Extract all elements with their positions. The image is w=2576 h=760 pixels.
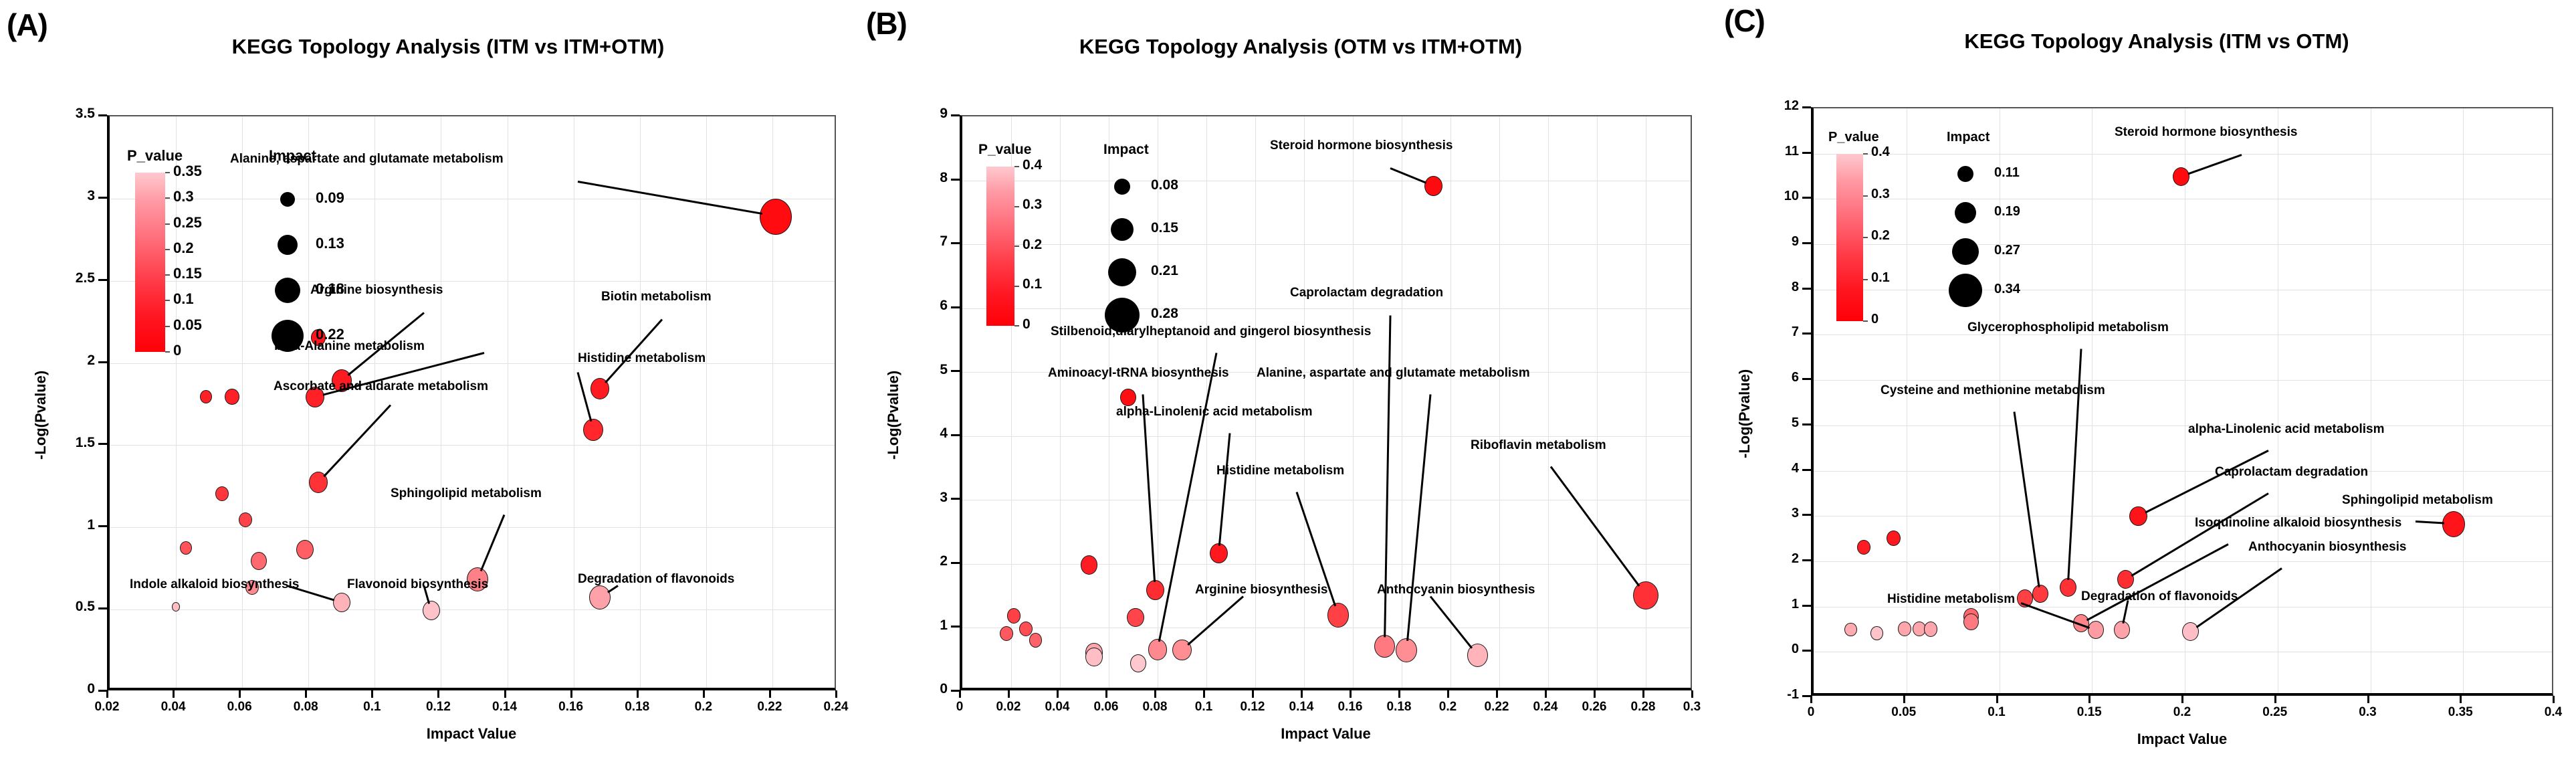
data-point [1085, 648, 1102, 666]
annotation-label: alpha-Linolenic acid metabolism [1116, 405, 1313, 419]
data-point [1396, 638, 1417, 662]
data-point [239, 512, 252, 527]
data-point [333, 593, 350, 612]
data-point [1019, 622, 1033, 636]
colorbar-tick-label: 0.1 [173, 290, 194, 308]
data-point [1146, 580, 1164, 600]
y-tick-label: 3 [873, 490, 948, 506]
data-point [2060, 578, 2076, 597]
colorbar-tick [1014, 325, 1019, 326]
leader-line [2187, 154, 2242, 175]
grid-line-horizontal [110, 527, 835, 528]
leader-line [323, 404, 391, 477]
legend-impact-dot [278, 235, 298, 255]
data-point [423, 601, 440, 620]
leader-line [1188, 595, 1244, 645]
legend-impact-label: 0.28 [1151, 306, 1178, 322]
panel-b: (B)KEGG Topology Analysis (OTM vs ITM+OT… [859, 0, 1719, 760]
y-tick-label: 10 [1724, 189, 1799, 204]
colorbar-tick [165, 197, 170, 199]
legend-pvalue-header: P_value [978, 142, 1031, 158]
y-tick-mark [98, 607, 107, 609]
x-tick-mark [504, 690, 506, 698]
data-point [2442, 511, 2465, 537]
legend-impact-dot [1108, 258, 1136, 286]
colorbar-tick-label: 0 [1871, 312, 1879, 327]
leader-line [578, 181, 762, 215]
pvalue-colorbar [135, 173, 165, 352]
legend-impact-label: 0.27 [1994, 243, 2020, 258]
annotation-label: Degradation of flavonoids [2081, 589, 2238, 604]
data-point [172, 602, 180, 611]
annotation-label: Cysteine and methionine metabolism [1881, 383, 2105, 398]
annotation-label: Isoquinoline alkaloid biosynthesis [2195, 516, 2401, 531]
x-tick-mark [437, 690, 439, 698]
data-point [296, 540, 314, 559]
x-tick-label: 0.05 [1864, 705, 1944, 720]
data-point [1029, 633, 1043, 648]
x-tick-mark [1154, 690, 1156, 698]
x-tick-mark [173, 690, 175, 698]
colorbar-tick-label: 0.3 [1871, 187, 1890, 202]
colorbar-tick-label: 0.2 [1023, 237, 1042, 253]
legend-impact-dot [1111, 218, 1134, 241]
y-tick-label: 5 [873, 362, 948, 378]
leader-line [1158, 353, 1218, 642]
x-tick-label: 0.3 [2328, 705, 2408, 720]
colorbar-tick-label: 0.05 [173, 316, 202, 334]
data-point [200, 390, 212, 403]
y-tick-label: 2 [1724, 551, 1799, 567]
y-tick-mark [98, 525, 107, 527]
leader-line [1142, 394, 1156, 582]
panel-letter: (A) [7, 7, 47, 43]
y-tick-label: 7 [1724, 324, 1799, 340]
leader-line [2416, 520, 2444, 525]
x-tick-mark [1057, 690, 1059, 698]
x-tick-mark [1008, 690, 1010, 698]
legend-impact-dot [1105, 298, 1140, 332]
grid-line-vertical [1499, 116, 1500, 688]
annotation-label: Biotin metabolism [601, 290, 712, 304]
x-tick-mark [2088, 696, 2090, 703]
y-tick-mark [951, 626, 960, 628]
data-point [1007, 608, 1021, 623]
panel-letter: (C) [1724, 3, 1765, 39]
y-axis-title: -Log(Pvalue) [885, 371, 902, 460]
leader-line [2086, 543, 2229, 621]
y-tick-mark [951, 690, 960, 692]
legend-impact-label: 0.18 [316, 280, 344, 298]
annotation-label: Ascorbate and aldarate metabolism [274, 379, 488, 394]
y-tick-label: 4 [873, 425, 948, 442]
data-point [1887, 531, 1901, 546]
x-tick-mark [2553, 696, 2555, 703]
y-tick-mark [1802, 378, 1811, 380]
annotation-label: Caprolactam degradation [2215, 465, 2368, 480]
x-tick-mark [239, 690, 241, 698]
colorbar-tick-label: 0 [1023, 316, 1031, 332]
legend-impact-label: 0.34 [1994, 282, 2020, 297]
y-tick-mark [1802, 605, 1811, 607]
y-tick-label: 3 [1724, 506, 1799, 521]
data-point [1924, 622, 1938, 637]
y-tick-mark [98, 114, 107, 116]
x-tick-mark [1496, 690, 1498, 698]
data-point [1857, 540, 1870, 555]
legend-impact-dot [1114, 179, 1130, 195]
grid-line-vertical [2371, 108, 2371, 693]
grid-line-horizontal [1814, 425, 2552, 426]
colorbar-tick [1863, 279, 1868, 280]
colorbar-tick [165, 326, 170, 327]
y-tick-label: 8 [873, 170, 948, 186]
grid-line-vertical [1451, 116, 1451, 688]
panel-a: (A)KEGG Topology Analysis (ITM vs ITM+OT… [0, 0, 859, 760]
annotation-label: Sphingolipid metabolism [2342, 493, 2493, 508]
y-tick-mark [951, 434, 960, 436]
data-point [2114, 621, 2130, 639]
y-tick-mark [1802, 106, 1811, 108]
legend-impact-label: 0.15 [1151, 220, 1178, 236]
colorbar-tick-label: 0.4 [1871, 145, 1890, 160]
y-tick-mark [951, 370, 960, 372]
annotation-label: Degradation of flavonoids [578, 572, 734, 587]
colorbar-tick [1863, 153, 1868, 155]
data-point [1898, 622, 1911, 636]
y-tick-label: 5 [1724, 415, 1799, 431]
annotation-label: alpha-Linolenic acid metabolism [2188, 422, 2385, 437]
x-tick-mark [2274, 696, 2276, 703]
colorbar-tick-label: 0.3 [1023, 197, 1042, 213]
data-point [225, 389, 239, 405]
y-tick-label: 12 [1724, 98, 1799, 114]
colorbar-tick [165, 274, 170, 276]
x-tick-label: 0.4 [2513, 705, 2576, 720]
y-tick-label: 2 [20, 353, 95, 369]
x-tick-label: 0 [1771, 705, 1851, 720]
data-point [1870, 626, 1883, 640]
x-tick-mark [1642, 690, 1644, 698]
x-tick-label: 0.2 [2142, 705, 2222, 720]
y-axis-title: -Log(Pvalue) [1736, 369, 1753, 458]
grid-line-vertical [1548, 116, 1549, 688]
leader-line [1550, 466, 1640, 587]
colorbar-tick [1863, 320, 1868, 322]
x-axis-title: Impact Value [107, 725, 836, 743]
leader-line [1218, 433, 1231, 546]
colorbar-tick-label: 0.25 [173, 214, 202, 231]
x-tick-mark [703, 690, 705, 698]
y-tick-mark [1802, 242, 1811, 244]
grid-line-horizontal [1814, 380, 2552, 381]
grid-line-vertical [574, 116, 574, 688]
grid-line-vertical [1304, 116, 1305, 688]
x-tick-mark [371, 690, 373, 698]
y-tick-label: 1 [20, 517, 95, 533]
y-tick-label: 0.5 [20, 599, 95, 615]
annotation-label: Caprolactam degradation [1290, 286, 1443, 300]
data-point [1424, 176, 1442, 196]
y-tick-label: 6 [1724, 370, 1799, 385]
data-point [583, 419, 603, 442]
y-tick-label: 0 [873, 681, 948, 697]
data-point [1327, 603, 1349, 627]
grid-line-horizontal [1814, 516, 2552, 516]
legend: P_valueImpact0.40.30.20.100.110.190.270.… [1828, 130, 2109, 351]
y-tick-label: 4 [1724, 461, 1799, 476]
y-tick-mark [98, 690, 107, 692]
annotation-label: Anthocyanin biosynthesis [2248, 540, 2406, 555]
y-tick-label: 0 [20, 681, 95, 697]
y-tick-mark [951, 562, 960, 564]
legend-impact-label: 0.08 [1151, 177, 1178, 193]
pvalue-colorbar [986, 167, 1014, 326]
colorbar-tick [1014, 206, 1019, 207]
colorbar-tick-label: 0.4 [1023, 157, 1042, 173]
grid-line-horizontal [962, 500, 1691, 500]
colorbar-tick [1863, 237, 1868, 238]
colorbar-tick [165, 351, 170, 353]
annotation-label: Alanine, aspartate and glutamate metabol… [1257, 366, 1530, 381]
y-tick-mark [951, 306, 960, 308]
x-axis-title: Impact Value [960, 725, 1692, 743]
grid-line-horizontal [962, 564, 1691, 565]
data-point [1000, 626, 1013, 641]
annotation-label: Histidine metabolism [578, 351, 706, 366]
y-tick-mark [98, 197, 107, 199]
annotation-label: Riboflavin metabolism [1471, 438, 1606, 453]
legend-impact-header: Impact [1947, 130, 1990, 145]
legend-impact-dot [1949, 274, 1982, 307]
colorbar-tick-label: 0.15 [173, 265, 202, 282]
legend-impact-dot [1952, 238, 1979, 265]
panel-c: (C)KEGG Topology Analysis (ITM vs OTM)St… [1719, 0, 2576, 760]
y-tick-label: 1 [1724, 597, 1799, 612]
annotation-label: Arginine biosynthesis [1195, 583, 1327, 597]
x-tick-mark [1350, 690, 1352, 698]
legend: P_valueImpact0.350.30.250.20.150.10.0500… [127, 147, 408, 380]
panel-letter: (B) [866, 5, 907, 41]
leader-line [1390, 167, 1426, 184]
data-point [1844, 623, 1856, 637]
x-tick-mark [1252, 690, 1254, 698]
y-tick-label: 8 [1724, 280, 1799, 295]
colorbar-tick-label: 0.1 [1871, 270, 1890, 286]
legend-impact-dot [280, 192, 295, 207]
annotation-label: Steroid hormone biosynthesis [2115, 125, 2297, 140]
x-tick-mark [2181, 696, 2183, 703]
x-axis-title: Impact Value [1811, 731, 2553, 748]
y-tick-label: 2 [873, 553, 948, 569]
annotation-label: Flavonoid biosynthesis [347, 577, 488, 592]
colorbar-tick [165, 249, 170, 250]
legend-impact-header: Impact [269, 147, 316, 165]
grid-line-horizontal [962, 436, 1691, 437]
grid-line-vertical [640, 116, 641, 688]
data-point [1148, 639, 1167, 660]
panel-title: KEGG Topology Analysis (ITM vs OTM) [1792, 29, 2521, 54]
data-point [1081, 555, 1097, 574]
x-tick-mark [1903, 696, 1905, 703]
y-tick-mark [1802, 514, 1811, 516]
y-tick-label: 2.5 [20, 270, 95, 286]
grid-line-horizontal [1814, 561, 2552, 562]
data-point [1374, 635, 1395, 658]
x-tick-mark [1691, 690, 1693, 698]
data-point [760, 199, 792, 235]
data-point [251, 552, 267, 570]
data-point [1210, 543, 1228, 563]
grid-line-vertical [508, 116, 508, 688]
data-point [2173, 167, 2189, 186]
legend-impact-label: 0.11 [1994, 165, 2020, 181]
y-tick-label: 6 [873, 298, 948, 314]
y-tick-mark [98, 361, 107, 363]
y-tick-label: 9 [873, 106, 948, 122]
x-tick-mark [2367, 696, 2369, 703]
data-point [1127, 608, 1144, 627]
annotation-label: Steroid hormone biosynthesis [1270, 138, 1453, 153]
y-tick-mark [1802, 288, 1811, 290]
leader-line [1406, 394, 1431, 641]
x-tick-mark [570, 690, 572, 698]
leader-line [577, 372, 593, 421]
panel-title: KEGG Topology Analysis (OTM vs ITM+OTM) [940, 35, 1662, 59]
x-tick-mark [1203, 690, 1205, 698]
annotation-label: Aminoacyl-tRNA biosynthesis [1048, 366, 1229, 381]
y-axis-title: -Log(Pvalue) [32, 371, 49, 460]
x-tick-mark [1301, 690, 1303, 698]
x-tick-mark [1398, 690, 1400, 698]
y-tick-mark [1802, 695, 1811, 697]
grid-line-horizontal [110, 445, 835, 446]
legend-impact-dot [1957, 166, 1973, 182]
x-tick-label: 0.1 [1957, 705, 2037, 720]
y-tick-mark [1802, 332, 1811, 335]
annotation-label: Histidine metabolism [1887, 592, 2015, 607]
y-tick-label: 9 [1724, 234, 1799, 250]
data-point [2088, 621, 2104, 639]
y-tick-mark [98, 443, 107, 445]
data-point [1963, 613, 1979, 631]
panel-title: KEGG Topology Analysis (ITM vs ITM+OTM) [94, 35, 802, 59]
leader-line [480, 514, 506, 571]
annotation-label: Anthocyanin biosynthesis [1377, 583, 1535, 597]
colorbar-tick-label: 0.2 [173, 240, 194, 257]
colorbar-tick [165, 172, 170, 173]
y-tick-label: -1 [1724, 687, 1799, 702]
annotation-label: Histidine metabolism [1216, 464, 1344, 478]
colorbar-tick [165, 223, 170, 225]
grid-line-vertical [706, 116, 707, 688]
data-point [2032, 585, 2048, 603]
y-tick-mark [951, 114, 960, 116]
grid-line-vertical [441, 116, 441, 688]
data-point [2117, 570, 2134, 589]
legend-impact-dot [272, 320, 304, 352]
y-tick-mark [1802, 469, 1811, 471]
x-tick-label: 0.15 [2049, 705, 2129, 720]
grid-line-vertical [2463, 108, 2464, 693]
data-point [2182, 622, 2199, 641]
colorbar-tick-label: 0 [173, 342, 181, 359]
legend-impact-label: 0.19 [1994, 204, 2020, 219]
data-point [1130, 654, 1146, 672]
leader-line [2131, 492, 2269, 577]
x-tick-mark [637, 690, 639, 698]
grid-line-vertical [2185, 108, 2185, 693]
x-tick-mark [1105, 690, 1107, 698]
annotation-label: Indole alkaloid biosynthesis [130, 577, 299, 592]
grid-line-vertical [2278, 108, 2278, 693]
colorbar-tick-label: 0.1 [1023, 276, 1042, 292]
grid-line-horizontal [1814, 652, 2552, 652]
y-tick-mark [1802, 559, 1811, 561]
kegg-topology-figure: (A)KEGG Topology Analysis (ITM vs ITM+OT… [0, 0, 2576, 760]
y-tick-mark [951, 179, 960, 181]
y-tick-mark [951, 242, 960, 244]
data-point [215, 486, 229, 501]
y-tick-label: 11 [1724, 144, 1799, 159]
colorbar-tick-label: 0.3 [173, 188, 194, 205]
annotation-label: Sphingolipid metabolism [391, 486, 542, 501]
grid-line-vertical [1402, 116, 1402, 688]
y-tick-label: 3 [20, 188, 95, 204]
y-tick-mark [951, 498, 960, 500]
x-tick-mark [1996, 696, 1998, 703]
colorbar-tick [1014, 286, 1019, 287]
grid-line-vertical [1597, 116, 1598, 688]
legend-impact-label: 0.09 [316, 189, 344, 207]
grid-line-vertical [1353, 116, 1354, 688]
y-tick-mark [1802, 423, 1811, 425]
y-tick-mark [1802, 197, 1811, 199]
y-tick-label: 3.5 [20, 106, 95, 122]
x-tick-label: 0.35 [2420, 705, 2500, 720]
y-tick-label: 1.5 [20, 435, 95, 451]
legend-impact-dot [275, 278, 300, 303]
y-tick-mark [1802, 152, 1811, 154]
y-tick-mark [98, 279, 107, 281]
x-tick-mark [835, 690, 837, 698]
legend-impact-label: 0.22 [316, 326, 344, 343]
colorbar-tick [165, 300, 170, 301]
legend: P_valueImpact0.40.30.20.100.080.150.210.… [978, 142, 1259, 355]
colorbar-tick-label: 0.2 [1871, 228, 1890, 244]
y-tick-mark [1802, 650, 1811, 652]
grid-line-horizontal [962, 628, 1691, 628]
legend-pvalue-header: P_value [1828, 130, 1879, 145]
data-point [1120, 389, 1136, 407]
legend-impact-dot [1955, 202, 1976, 223]
colorbar-tick-label: 0.35 [173, 163, 202, 180]
y-tick-label: 0 [1724, 642, 1799, 657]
x-tick-mark [1447, 690, 1449, 698]
x-tick-mark [769, 690, 771, 698]
pvalue-colorbar [1836, 154, 1863, 321]
x-tick-mark [1594, 690, 1596, 698]
colorbar-tick [1863, 195, 1868, 197]
colorbar-tick [1014, 166, 1019, 167]
y-tick-label: 1 [873, 617, 948, 634]
grid-line-horizontal [110, 609, 835, 610]
data-point [180, 541, 192, 555]
x-tick-mark [305, 690, 307, 698]
colorbar-tick [1014, 246, 1019, 247]
legend-impact-label: 0.21 [1151, 263, 1178, 279]
data-point [2129, 506, 2147, 526]
